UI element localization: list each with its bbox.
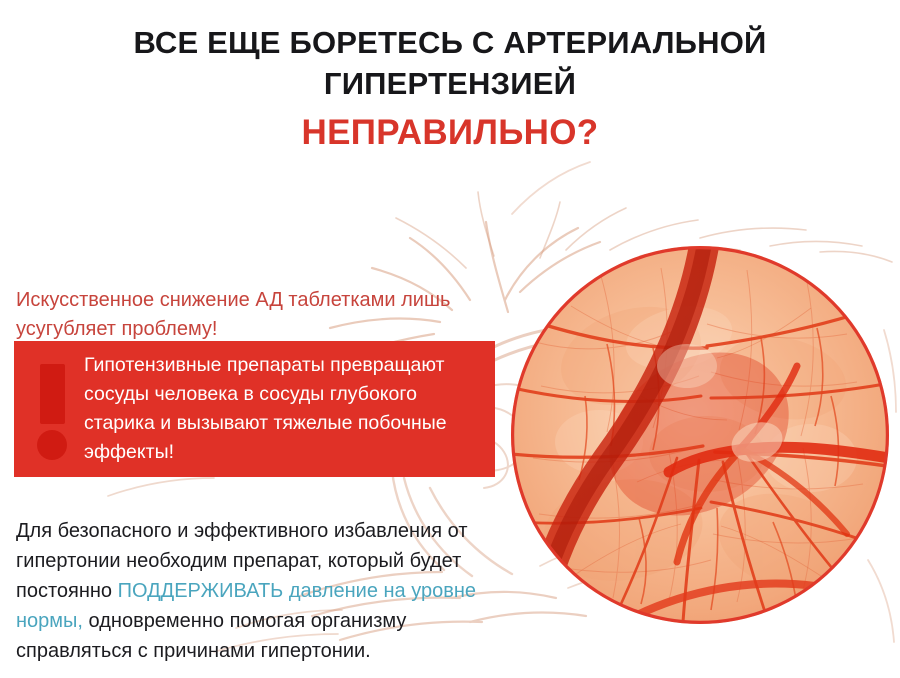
content-column: Искусственное снижение АД таблетками лиш…: [0, 0, 520, 678]
exclamation-mark-icon: [30, 360, 78, 458]
body-paragraph: Для безопасного и эффективного избавлени…: [16, 516, 496, 666]
intro-text: Искусственное снижение АД таблетками лиш…: [16, 286, 486, 344]
warning-callout-text: Гипотензивные препараты превращают сосуд…: [84, 351, 495, 467]
blood-vessel-micrograph: [511, 246, 889, 624]
exclamation-stem: [40, 364, 65, 424]
exclamation-dot: [37, 430, 67, 460]
promo-page: ВСЕ ЕЩЕ БОРЕТЕСЬ С АРТЕРИАЛЬНОЙ ГИПЕРТЕН…: [0, 0, 900, 678]
warning-callout: Гипотензивные препараты превращают сосуд…: [14, 341, 495, 477]
